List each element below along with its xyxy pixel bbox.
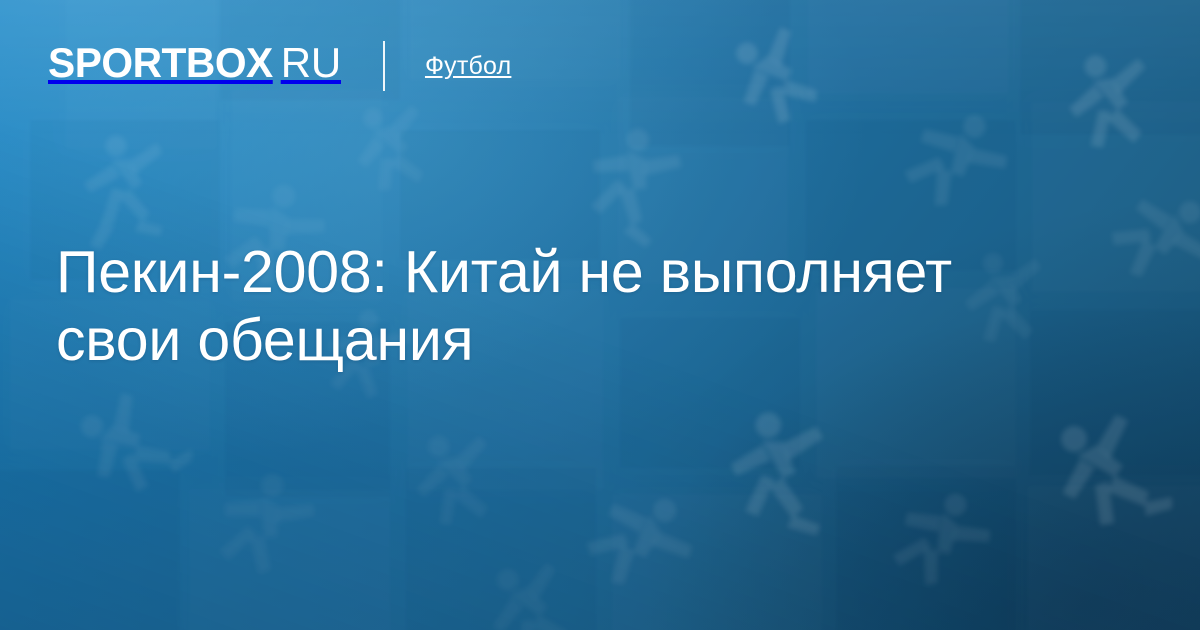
header-divider — [383, 41, 385, 91]
share-card: SPORTBOXRU Футбол Пекин-2008: Китай не в… — [0, 0, 1200, 630]
page-title-line-2: свои обещания — [56, 307, 473, 373]
logo-tld-text: RU — [281, 42, 341, 84]
page-title-line-1: Пекин-2008: Китай не выполняет — [56, 239, 952, 305]
site-header: SPORTBOXRU Футбол — [48, 42, 1152, 90]
logo-brand-text: SPORTBOX — [48, 42, 273, 84]
page-title: Пекин-2008: Китай не выполняетсвои обеща… — [56, 238, 1126, 374]
section-label-football[interactable]: Футбол — [425, 52, 511, 81]
sportbox-logo[interactable]: SPORTBOXRU — [48, 42, 341, 90]
article-title-block: Пекин-2008: Китай не выполняетсвои обеща… — [56, 238, 1126, 374]
